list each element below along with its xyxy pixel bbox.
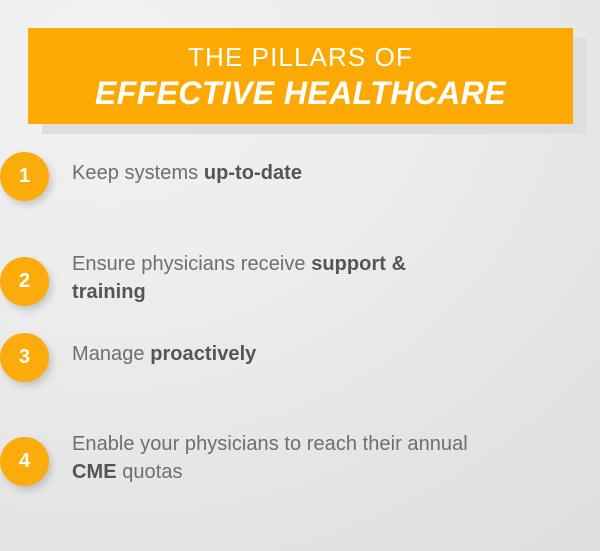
number-badge-3: 3 bbox=[0, 333, 49, 382]
list-item-text-tail: quotas bbox=[117, 461, 183, 483]
list-item-text-regular: Keep systems bbox=[72, 162, 204, 184]
list-item: 1 Keep systems up-to-date bbox=[0, 152, 600, 222]
list-item-text-bold: proactively bbox=[150, 343, 256, 365]
list-item: 2 Ensure physicians receive support & tr… bbox=[0, 243, 600, 313]
number-badge-label: 2 bbox=[19, 271, 30, 291]
list-item-text: Manage proactively bbox=[72, 333, 256, 368]
header-banner-body: THE PILLARS OF EFFECTIVE HEALTHCARE bbox=[28, 28, 573, 124]
list-item-text-bold: CME bbox=[72, 461, 117, 483]
number-badge-label: 1 bbox=[19, 166, 30, 186]
number-badge-label: 4 bbox=[19, 451, 30, 471]
list-item-text: Ensure physicians receive support & trai… bbox=[72, 243, 472, 307]
bullet-wrap: 2 bbox=[0, 257, 41, 306]
bullet-cell: 2 bbox=[0, 243, 41, 306]
list-item-text: Enable your physicians to reach their an… bbox=[72, 423, 472, 487]
list-item-text-regular: Manage bbox=[72, 343, 150, 365]
header-title-line1: THE PILLARS OF bbox=[188, 44, 413, 70]
number-badge-2: 2 bbox=[0, 257, 49, 306]
list-item-text-bold: up-to-date bbox=[204, 162, 302, 184]
number-badge-1: 1 bbox=[0, 152, 49, 201]
list-item-text-regular: Ensure physicians receive bbox=[72, 253, 311, 275]
pillars-list: 1 Keep systems up-to-date 2 Ensure physi… bbox=[0, 152, 600, 512]
number-badge-label: 3 bbox=[19, 347, 30, 367]
list-item: 4 Enable your physicians to reach their … bbox=[0, 423, 600, 493]
number-badge-4: 4 bbox=[0, 437, 49, 486]
bullet-cell: 4 bbox=[0, 423, 41, 486]
list-item-text-regular: Enable your physicians to reach their an… bbox=[72, 433, 468, 455]
infographic-canvas: THE PILLARS OF EFFECTIVE HEALTHCARE 1 Ke… bbox=[0, 0, 600, 551]
header-banner: THE PILLARS OF EFFECTIVE HEALTHCARE bbox=[28, 28, 573, 124]
bullet-wrap: 4 bbox=[0, 437, 41, 486]
list-item-text: Keep systems up-to-date bbox=[72, 152, 302, 187]
bullet-cell: 3 bbox=[0, 333, 41, 382]
bullet-wrap: 1 bbox=[0, 152, 41, 201]
bullet-cell: 1 bbox=[0, 152, 41, 201]
list-item: 3 Manage proactively bbox=[0, 333, 600, 403]
bullet-wrap: 3 bbox=[0, 333, 41, 382]
header-title-line2: EFFECTIVE HEALTHCARE bbox=[95, 77, 506, 109]
